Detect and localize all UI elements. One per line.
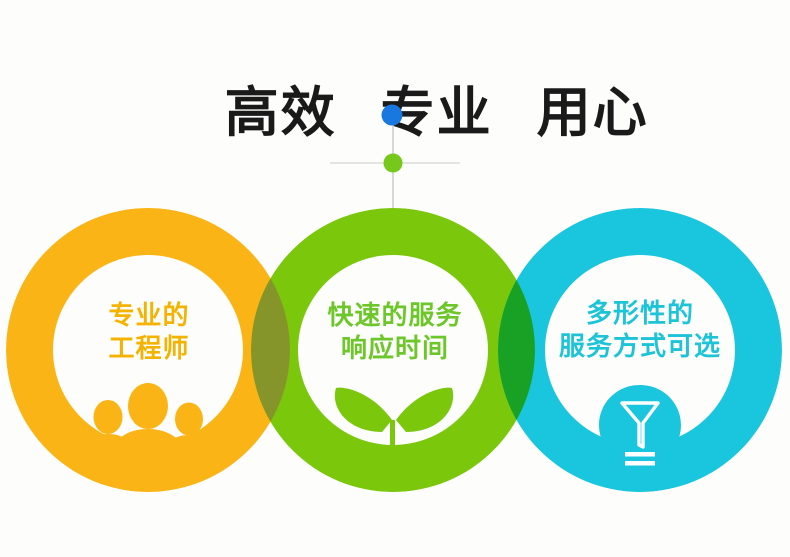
circle-title-response: 快速的服务 响应时间 — [285, 300, 505, 367]
circle-title-options: 多形性的 服务方式可选 — [515, 298, 765, 365]
circle-title-engineers: 专业的 工程师 — [44, 300, 254, 367]
infographic-canvas: 高效专业用心 — [0, 0, 790, 557]
venn-rings — [0, 0, 790, 557]
